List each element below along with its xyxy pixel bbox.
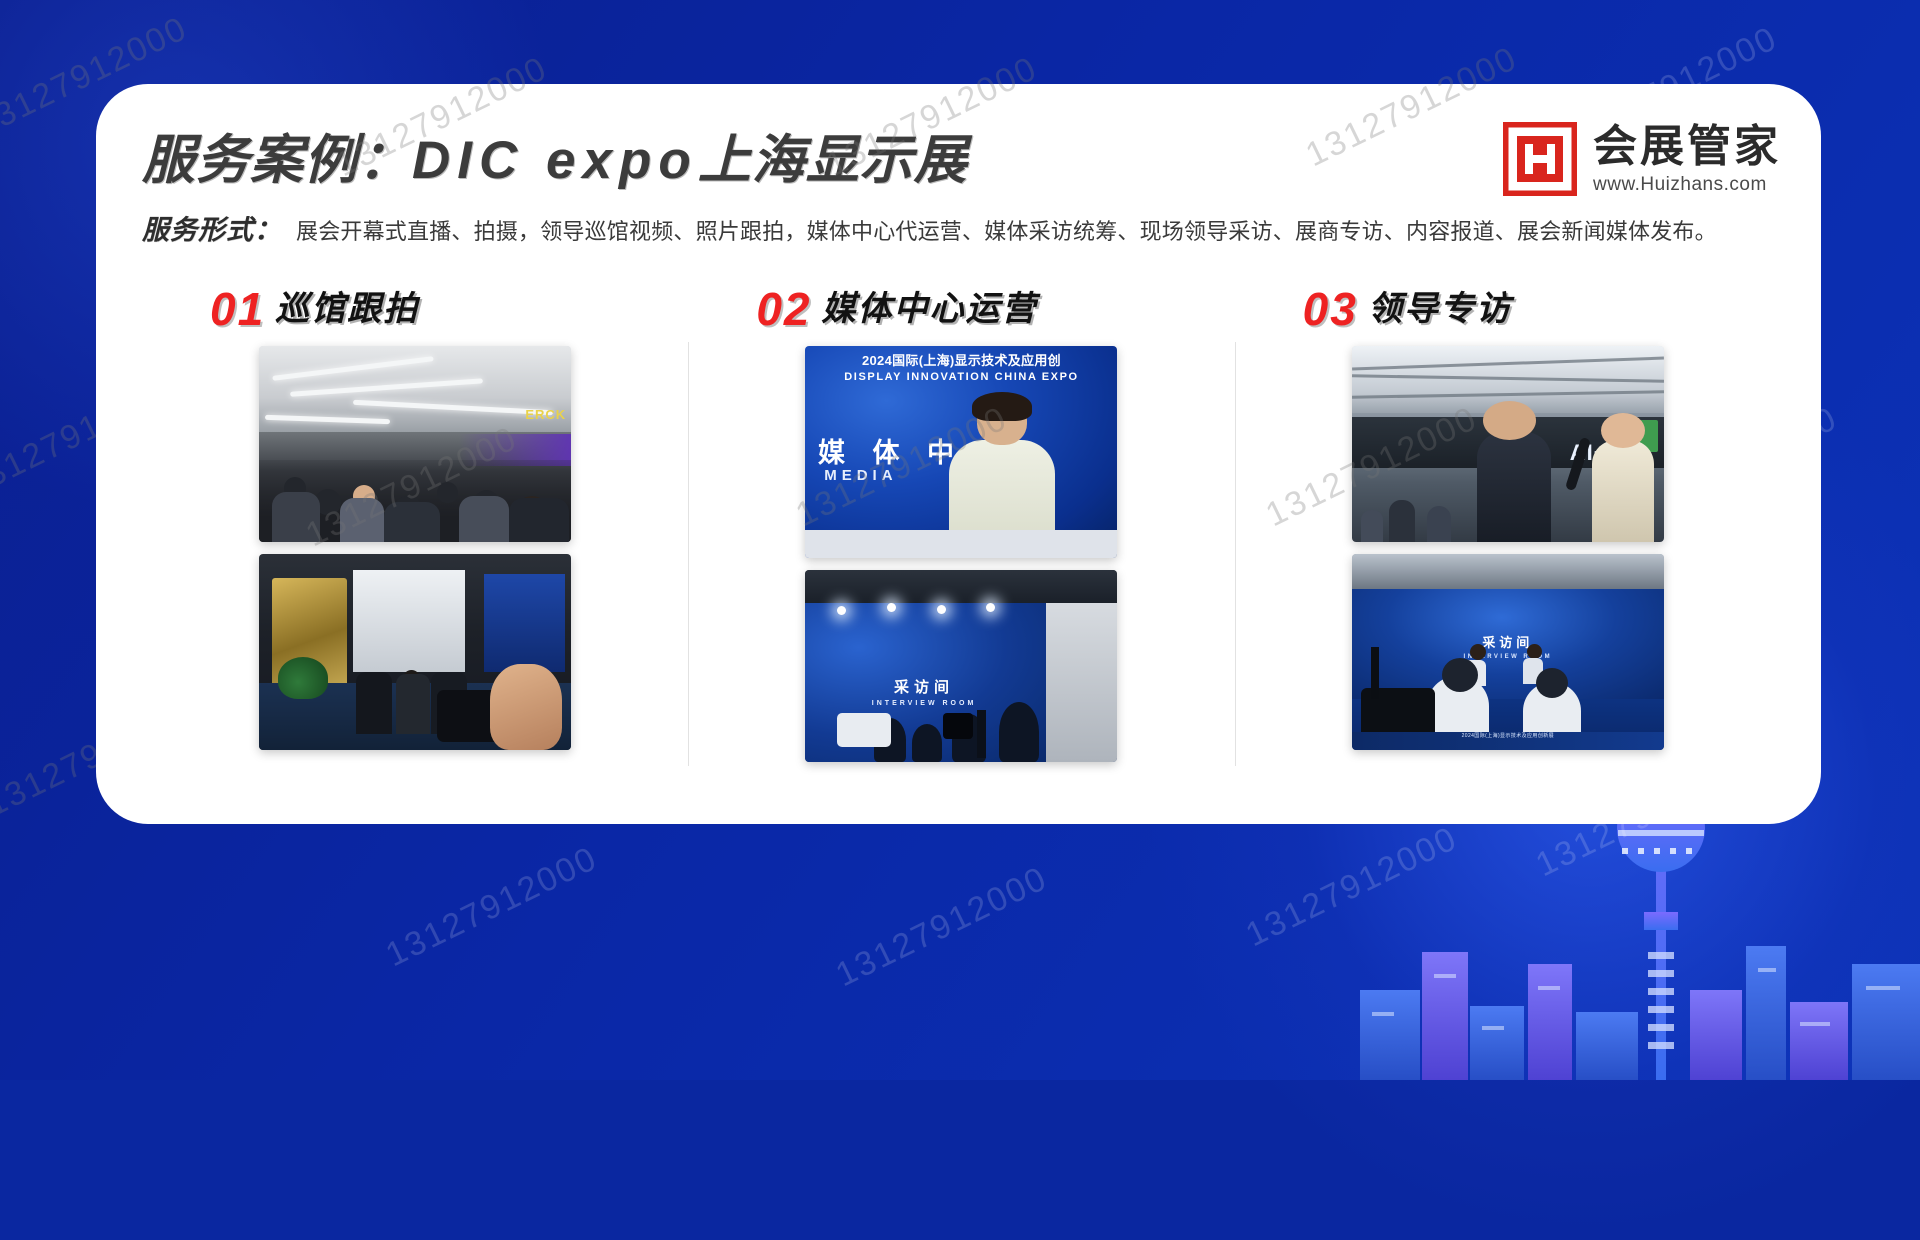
section-label: 巡馆跟拍 [275, 292, 419, 326]
section-number: 02 [756, 286, 811, 332]
sections-row: 01 巡馆跟拍 ERCK [142, 280, 1781, 800]
brand-url[interactable]: www.Huizhans.com [1593, 175, 1781, 194]
photo-scene: AI+ [1352, 346, 1664, 542]
photo-interview-room-crew[interactable]: 采访间 INTERVIEW ROOM [805, 570, 1117, 762]
section-03: 03 领导专访 AI+ [1235, 280, 1781, 800]
room-caption: 采访间 INTERVIEW ROOM [805, 676, 1042, 707]
page-title-en: DIC expo [412, 131, 698, 190]
page-title: 服务案例：DIC expo上海显示展 [142, 118, 968, 194]
room-cn-text: 采访间 [805, 676, 1042, 697]
section-label: 媒体中心运营 [822, 292, 1038, 326]
service-form-text: 展会开幕式直播、拍摄，领导巡馆视频、照片跟拍，媒体中心代运营、媒体采访统筹、现场… [296, 214, 1717, 246]
page-title-prefix: 服务案例： [142, 131, 412, 190]
page-title-suffix: 上海显示展 [698, 131, 968, 190]
section-01-photos: ERCK [168, 346, 662, 750]
brand-logo[interactable]: 会展管家 www.Huizhans.com [1503, 122, 1781, 196]
room-en-text: INTERVIEW ROOM [1352, 654, 1664, 660]
room-cn-text: 采访间 [1352, 632, 1664, 651]
banner-en-text: DISPLAY INNOVATION CHINA EXPO [805, 371, 1117, 383]
content-card: 服务案例：DIC expo上海显示展 会展管家 www.Huizhans.com… [96, 84, 1821, 824]
media-center-en-text: MEDIA [824, 467, 897, 484]
photo-booth-tour[interactable] [259, 554, 571, 750]
photo-scene: ERCK [259, 346, 571, 542]
brand-name: 会展管家 [1593, 125, 1781, 169]
section-02-photos: 2024国际(上海)显示技术及应用创 DISPLAY INNOVATION CH… [714, 346, 1208, 762]
banner-cn-text: 2024国际(上海)显示技术及应用创 [805, 350, 1117, 369]
footer-band-text: 2024国际(上海)显示技术及应用创新展 [1352, 732, 1664, 742]
section-01: 01 巡馆跟拍 ERCK [142, 280, 688, 800]
photo-footer-band: 2024国际(上海)显示技术及应用创新展 [1352, 732, 1664, 750]
photo-scene [259, 554, 571, 750]
section-02-header: 02 媒体中心运营 [714, 280, 1208, 338]
section-number: 01 [210, 286, 265, 332]
huizhans-mark-icon [1503, 122, 1577, 196]
photo-media-center[interactable]: 2024国际(上海)显示技术及应用创 DISPLAY INNOVATION CH… [805, 346, 1117, 558]
photo-scene: 采访间 INTERVIEW ROOM [805, 570, 1117, 762]
card-header: 服务案例：DIC expo上海显示展 会展管家 www.Huizhans.com [142, 118, 1781, 210]
photo-interview-room-filming[interactable]: 采访间 INTERVIEW ROOM [1352, 554, 1664, 750]
photo-banner: 2024国际(上海)显示技术及应用创 DISPLAY INNOVATION CH… [805, 350, 1117, 383]
brand-text: 会展管家 www.Huizhans.com [1593, 125, 1781, 194]
section-03-header: 03 领导专访 [1261, 280, 1755, 338]
section-02: 02 媒体中心运营 2024国际(上海)显示技术及应用创 DISPLAY INN… [688, 280, 1234, 800]
service-form-label: 服务形式： [142, 208, 282, 247]
photo-scene: 2024国际(上海)显示技术及应用创 DISPLAY INNOVATION CH… [805, 346, 1117, 558]
section-label: 领导专访 [1368, 292, 1512, 326]
section-01-header: 01 巡馆跟拍 [168, 280, 662, 338]
booth-sign-text: ERCK [525, 407, 566, 422]
room-en-text: INTERVIEW ROOM [805, 700, 1042, 707]
photo-leader-interview-hall[interactable]: AI+ [1352, 346, 1664, 542]
section-number: 03 [1303, 286, 1358, 332]
photo-scene: 采访间 INTERVIEW ROOM [1352, 554, 1664, 750]
photo-hall-crowd[interactable]: ERCK [259, 346, 571, 542]
section-03-photos: AI+ [1261, 346, 1755, 750]
service-form-row: 服务形式： 展会开幕式直播、拍摄，领导巡馆视频、照片跟拍，媒体中心代运营、媒体采… [142, 208, 1781, 247]
room-caption: 采访间 INTERVIEW ROOM [1352, 632, 1664, 660]
